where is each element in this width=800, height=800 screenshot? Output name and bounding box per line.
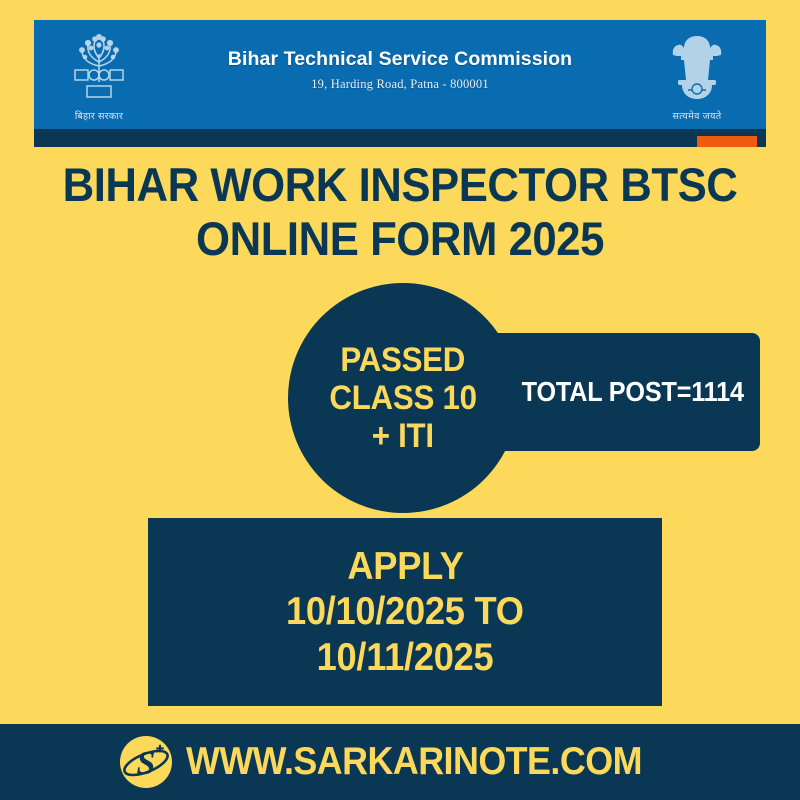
headline-line-1: BIHAR WORK INSPECTOR BTSC [28,158,772,212]
bihar-government-emblem: बिहार सरकार [44,32,154,130]
letterhead-banner: बिहार सरकार Bihar Technical Service Comm… [34,20,766,147]
poster-headline: BIHAR WORK INSPECTOR BTSC ONLINE FORM 20… [28,158,772,266]
bihar-emblem-caption: बिहार सरकार [44,109,154,122]
apply-start-date: 10/10/2025 TO [286,589,524,635]
sarkarinote-s-logo: S [118,734,174,790]
eligibility-line-1: PASSED [341,341,466,379]
website-url: WWW.SARKARINOTE.COM [186,740,642,784]
letterhead-bottom-strip [34,129,766,147]
total-post-text: TOTAL POST=1114 [522,376,744,408]
poster-canvas: बिहार सरकार Bihar Technical Service Comm… [0,0,800,800]
ashoka-emblem-caption: सत्यमेव जयते [642,109,752,122]
footer-bar: S WWW.SARKARINOTE.COM [0,724,800,800]
apply-label: APPLY [347,544,463,590]
apply-end-date: 10/11/2025 [317,635,494,681]
letterhead-orange-accent [697,136,757,147]
apply-dates-box: APPLY 10/10/2025 TO 10/11/2025 [148,518,662,706]
headline-line-2: ONLINE FORM 2025 [28,212,772,266]
eligibility-line-3: + ITI [372,417,434,455]
svg-text:S: S [137,745,156,782]
eligibility-badge: PASSED CLASS 10 + ITI [288,283,518,513]
ashoka-lion-capital-emblem: सत्यमेव जयते [642,32,752,130]
eligibility-line-2: CLASS 10 [329,379,476,417]
